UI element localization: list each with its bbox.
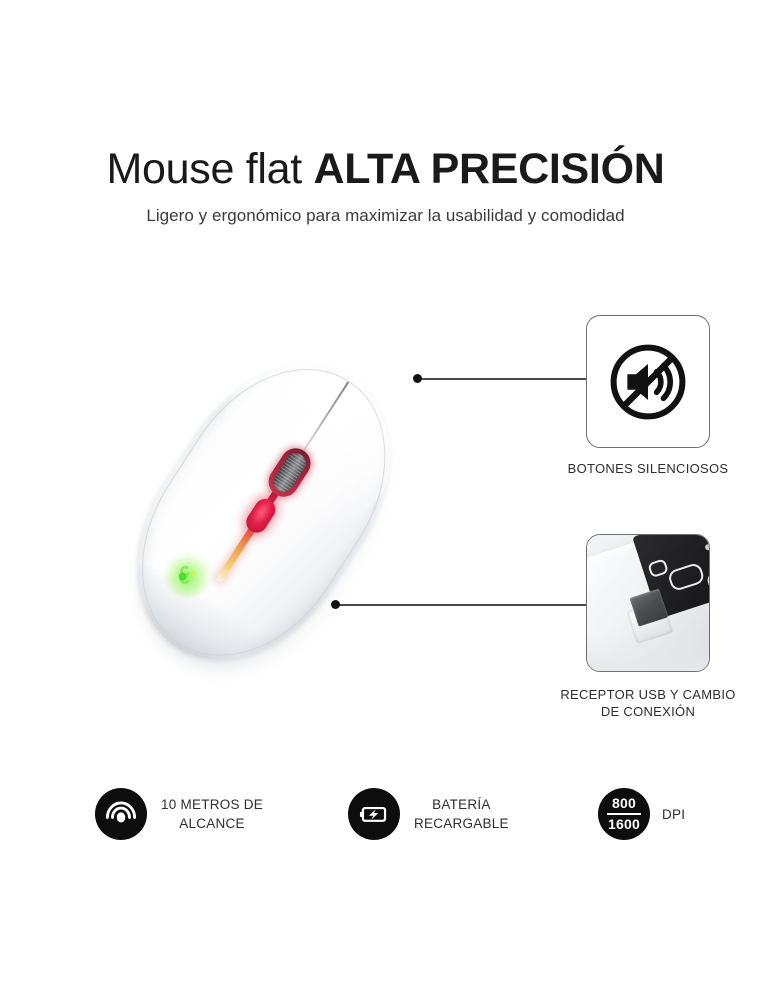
- leader-line-usb-receiver: [338, 604, 588, 606]
- usb-receiver-photo: [587, 535, 709, 671]
- infographic-page: Mouse flat ALTA PRECISIÓN Ligero y ergon…: [0, 0, 771, 1000]
- callout-box-silent-buttons: [586, 315, 710, 448]
- feature-bateria: BATERÍA RECARGABLE: [348, 786, 509, 842]
- usb-photo-gradient: [587, 635, 709, 672]
- page-title-bold: ALTA PRECISIÓN: [314, 145, 665, 193]
- callout-label-usb-receiver: RECEPTOR USB Y CAMBIO DE CONEXIÓN: [553, 686, 743, 720]
- page-title-light: Mouse flat: [107, 145, 314, 193]
- feature-icon-badge: [348, 788, 400, 840]
- feature-label-bateria: BATERÍA RECARGABLE: [414, 795, 509, 833]
- page-title: Mouse flat ALTA PRECISIÓN: [0, 143, 771, 195]
- leader-line-silent-buttons: [420, 378, 588, 380]
- dpi-badge-icon: 800 1600: [607, 796, 641, 832]
- plate-pill: [705, 563, 710, 597]
- wireless-signal-icon: [104, 797, 138, 831]
- feature-label-alcance: 10 METROS DE ALCANCE: [161, 795, 263, 833]
- dpi-divider: [607, 813, 641, 815]
- page-subtitle: Ligero y ergonómico para maximizar la us…: [0, 205, 771, 227]
- rechargeable-battery-icon: [357, 797, 391, 831]
- product-image-mouse: [90, 295, 470, 685]
- feature-dpi: 800 1600 DPI: [598, 786, 685, 842]
- feature-icon-badge: 800 1600: [598, 788, 650, 840]
- leader-dot-silent-buttons: [413, 374, 422, 383]
- mute-speaker-icon: [605, 339, 691, 425]
- feature-alcance: 10 METROS DE ALCANCE: [95, 786, 263, 842]
- dpi-high-value: 1600: [607, 817, 641, 832]
- callout-label-silent-buttons: BOTONES SILENCIOSOS: [553, 460, 743, 477]
- mouse-rotation-wrapper: [89, 323, 443, 713]
- dpi-low-value: 800: [607, 796, 641, 811]
- plate-dot: [704, 543, 710, 551]
- plate-pill: [647, 558, 669, 578]
- plate-pill: [667, 562, 706, 592]
- feature-icon-badge: [95, 788, 147, 840]
- leader-dot-usb-receiver: [331, 600, 340, 609]
- feature-label-dpi: DPI: [662, 805, 685, 824]
- callout-box-usb-receiver: [586, 534, 710, 672]
